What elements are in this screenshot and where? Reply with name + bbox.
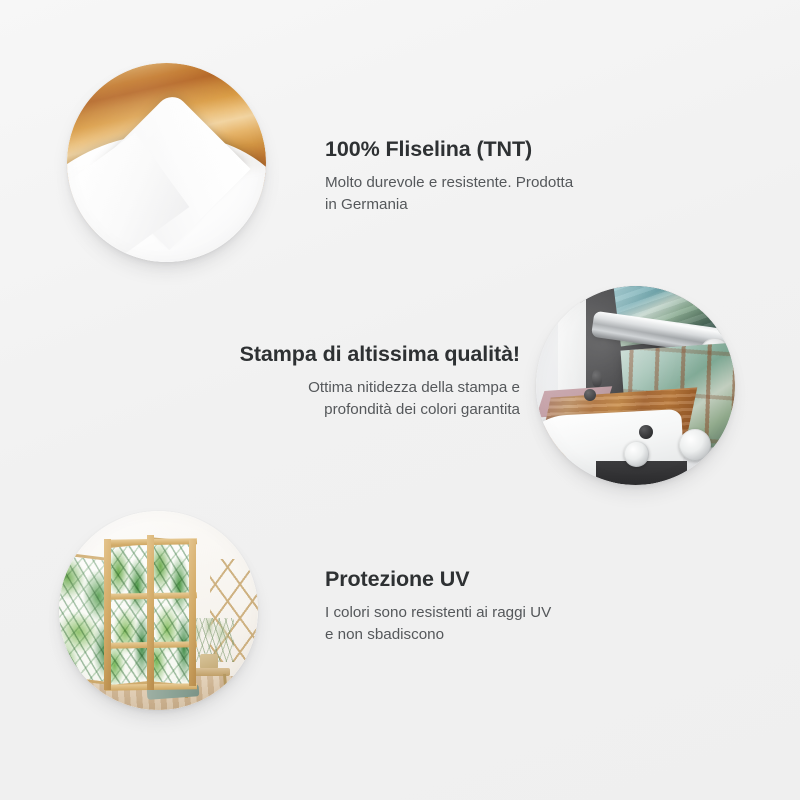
large-format-printer-photo [536,286,735,485]
feature-description-line-2: profondità dei colori garantita [324,401,520,418]
monstera-wallpaper-panel [149,537,193,688]
feature-description-fliselina: Molto durevole e resistente. Prodotta in… [325,172,665,216]
feature-image-protezione-uv [59,511,258,710]
feature-description-line-2: e non sbadiscono [325,626,444,643]
feature-image-fliselina [67,63,266,262]
feature-image-stampa-qualita [536,286,735,485]
feature-heading-fliselina: 100% Fliselina (TNT) [325,136,665,163]
printer-lever [592,370,602,388]
feature-description-line-2: in Germania [325,196,408,213]
feature-description-line-1: Ottima nitidezza della stampa e [308,379,520,396]
tropical-room-divider-photo [59,511,258,710]
monstera-wallpaper-panel [107,541,151,689]
screen-frame-post [104,539,111,690]
product-feature-graphic: 100% Fliselina (TNT) Molto durevole e re… [0,0,800,800]
screen-frame-post [147,535,154,690]
feature-description-line-1: I colori sono resistenti ai raggi UV [325,604,551,621]
screen-frame-post [189,539,196,686]
feature-text-protezione-uv: Protezione UV I colori sono resistenti a… [325,566,665,646]
feature-heading-protezione-uv: Protezione UV [325,566,665,593]
feature-description-line-1: Molto durevole e resistente. Prodotta [325,174,573,191]
feature-description-stampa-qualita: Ottima nitidezza della stampa e profondi… [120,377,520,421]
monstera-leaf-pattern [110,544,148,685]
monstera-leaf-pattern [152,540,190,685]
printer-pressure-wheel [679,429,711,461]
feature-text-stampa-qualita: Stampa di altissima qualità! Ottima niti… [120,341,520,421]
feature-text-fliselina: 100% Fliselina (TNT) Molto durevole e re… [325,136,665,216]
peeling-wallpaper-roll-photo [67,63,266,262]
feature-heading-stampa-qualita: Stampa di altissima qualità! [120,341,520,368]
feature-description-protezione-uv: I colori sono resistenti ai raggi UV e n… [325,602,665,646]
